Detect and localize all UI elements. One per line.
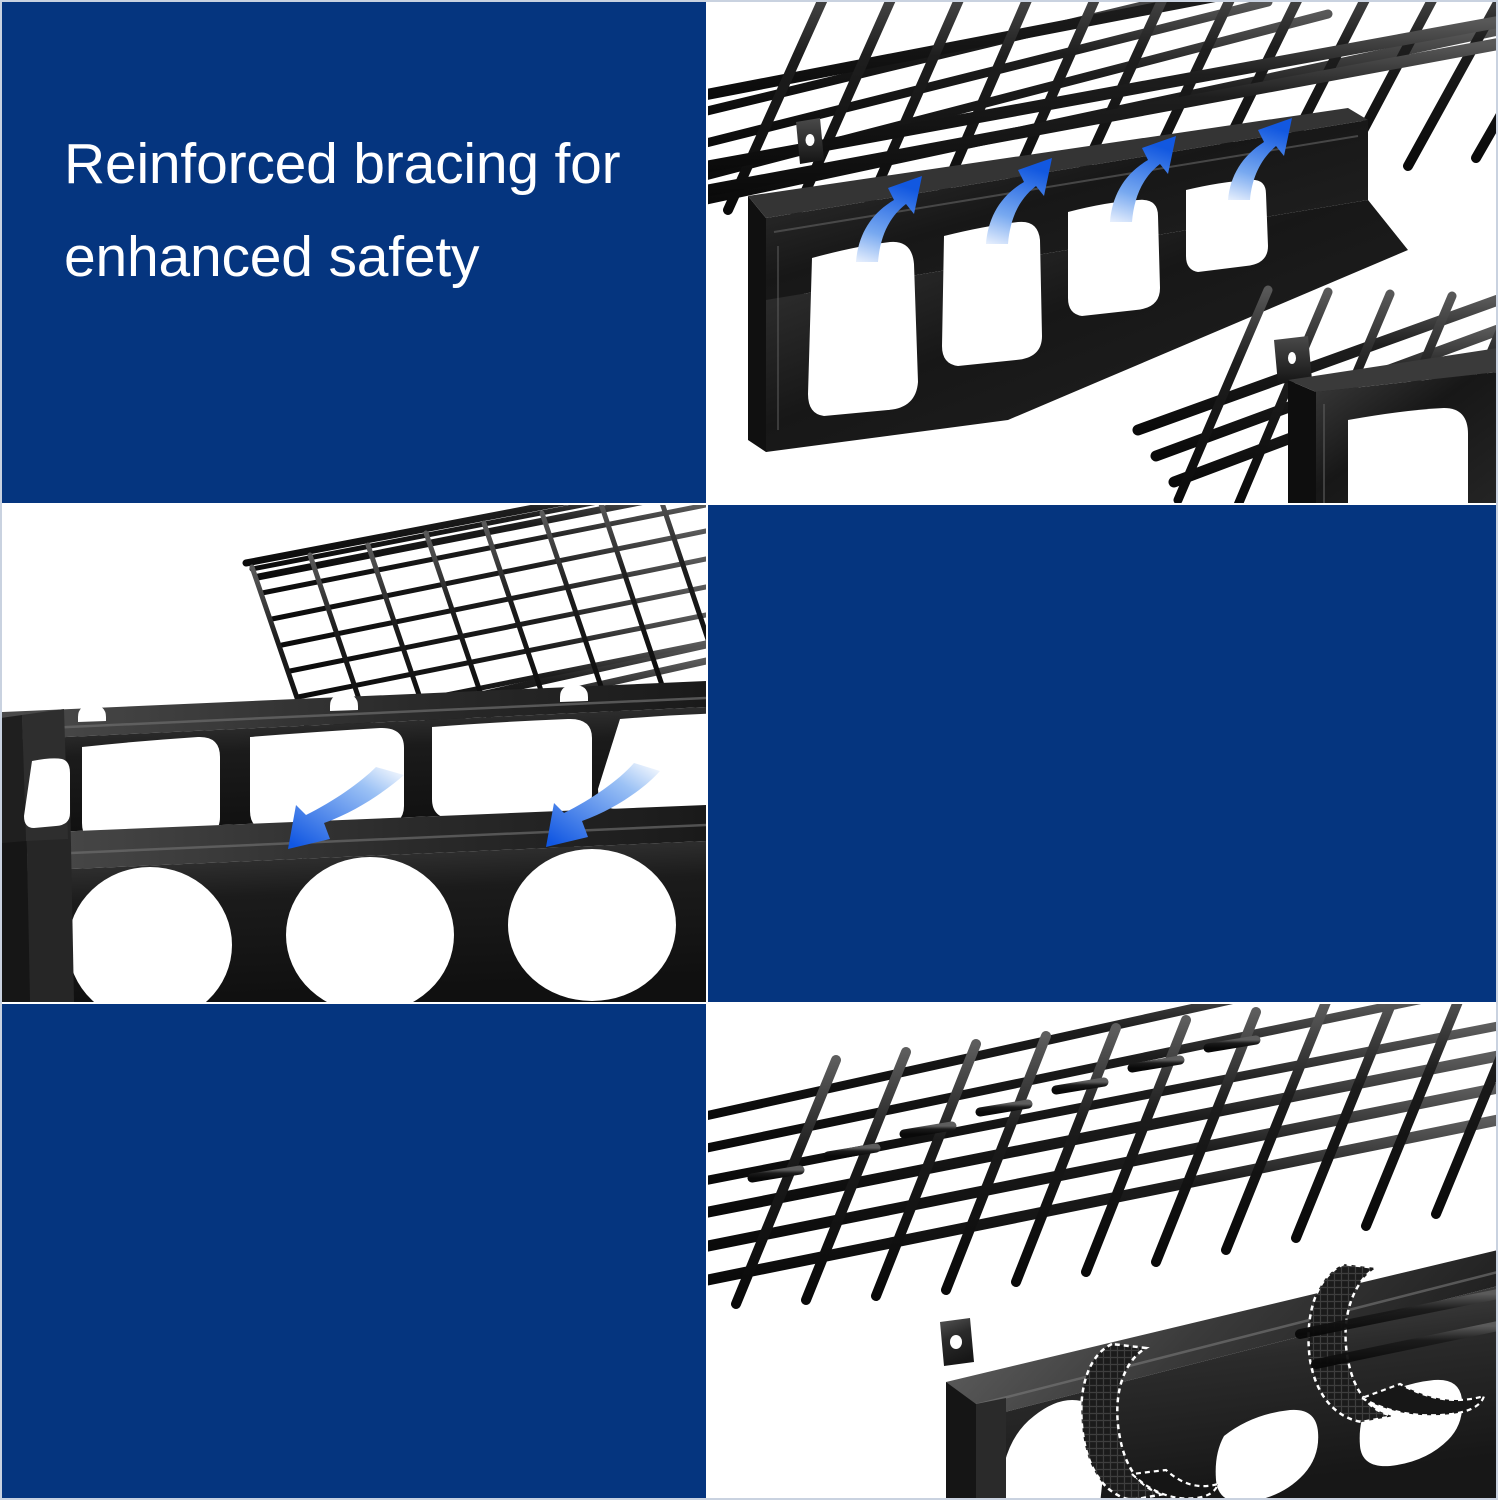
mounting-tab-icon [940,1318,974,1366]
photo-locking-slots [0,505,706,1002]
panel-locking-slots: Locking slots reinforce mesh panel stabi… [708,505,1498,1002]
panel-velcro-design: Velcro design eliminate lateral shifting [0,1004,706,1500]
photo-velcro-straps [708,1004,1498,1500]
wire-shelf-bracket-illustration [708,0,1498,503]
panel-reinforced-bracing: Reinforced bracing for enhanced safety [0,0,706,503]
feature-grid-board: Reinforced bracing for enhanced safety [0,0,1498,1500]
caption-reinforced-bracing: Reinforced bracing for enhanced safety [64,118,684,304]
mounting-tab-icon [796,118,824,164]
velcro-strap-illustration [708,1004,1498,1500]
photo-reinforced-bracing [708,0,1498,503]
locking-slot-illustration [0,505,706,1002]
left-leg [0,709,70,845]
